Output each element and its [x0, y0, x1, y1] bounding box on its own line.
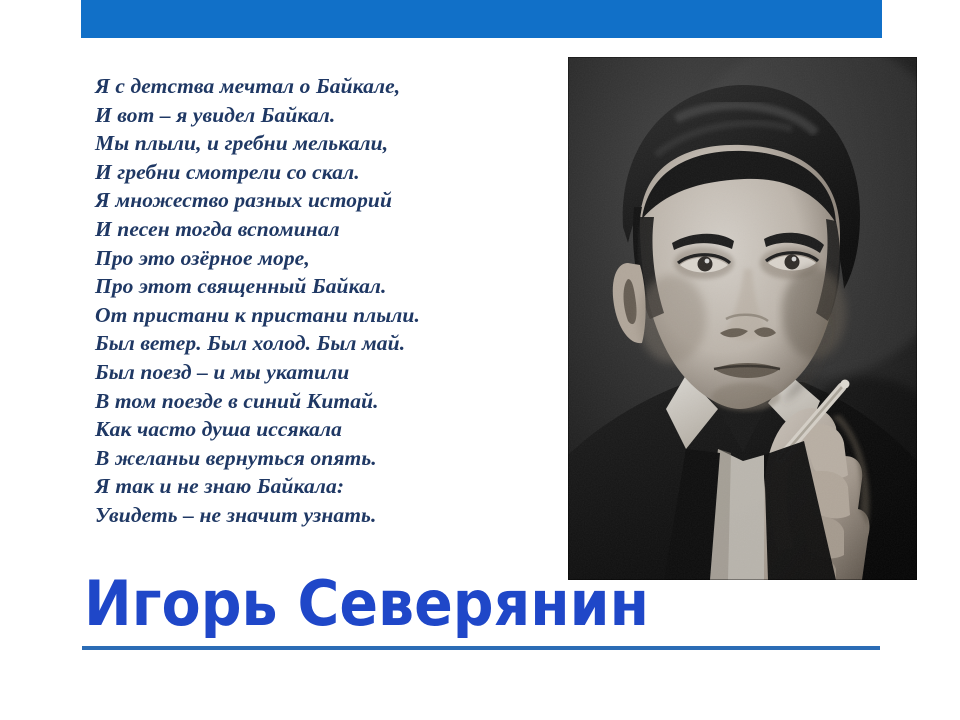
- poem-line: Был поезд – и мы укатили: [95, 358, 545, 387]
- poem-line: Я с детства мечтал о Байкале,: [95, 72, 545, 101]
- portrait-photo: [568, 57, 917, 580]
- slide-canvas: Я с детства мечтал о Байкале, И вот – я …: [0, 0, 960, 720]
- bottom-divider-rule: [82, 646, 880, 650]
- poem-line: Увидеть – не значит узнать.: [95, 501, 545, 530]
- poem-line: Про это озёрное море,: [95, 244, 545, 273]
- poem-line: Про этот священный Байкал.: [95, 272, 545, 301]
- poem-line: Я так и не знаю Байкала:: [95, 472, 545, 501]
- poem-line: И вот – я увидел Байкал.: [95, 101, 545, 130]
- author-name: Игорь Северянин: [84, 572, 649, 636]
- portrait-photo-image: [568, 57, 917, 580]
- poem-line: Был ветер. Был холод. Был май.: [95, 329, 545, 358]
- poem-text-block: Я с детства мечтал о Байкале, И вот – я …: [95, 72, 545, 530]
- top-accent-band: [81, 0, 882, 38]
- poem-line: И гребни смотрели со скал.: [95, 158, 545, 187]
- poem-line: И песен тогда вспоминал: [95, 215, 545, 244]
- poem-line: От пристани к пристани плыли.: [95, 301, 545, 330]
- poem-line: Мы плыли, и гребни мелькали,: [95, 129, 545, 158]
- poem-line: В том поезде в синий Китай.: [95, 387, 545, 416]
- poem-line: Как часто душа иссякала: [95, 415, 545, 444]
- poem-line: В желаньи вернуться опять.: [95, 444, 545, 473]
- poem-line: Я множество разных историй: [95, 186, 545, 215]
